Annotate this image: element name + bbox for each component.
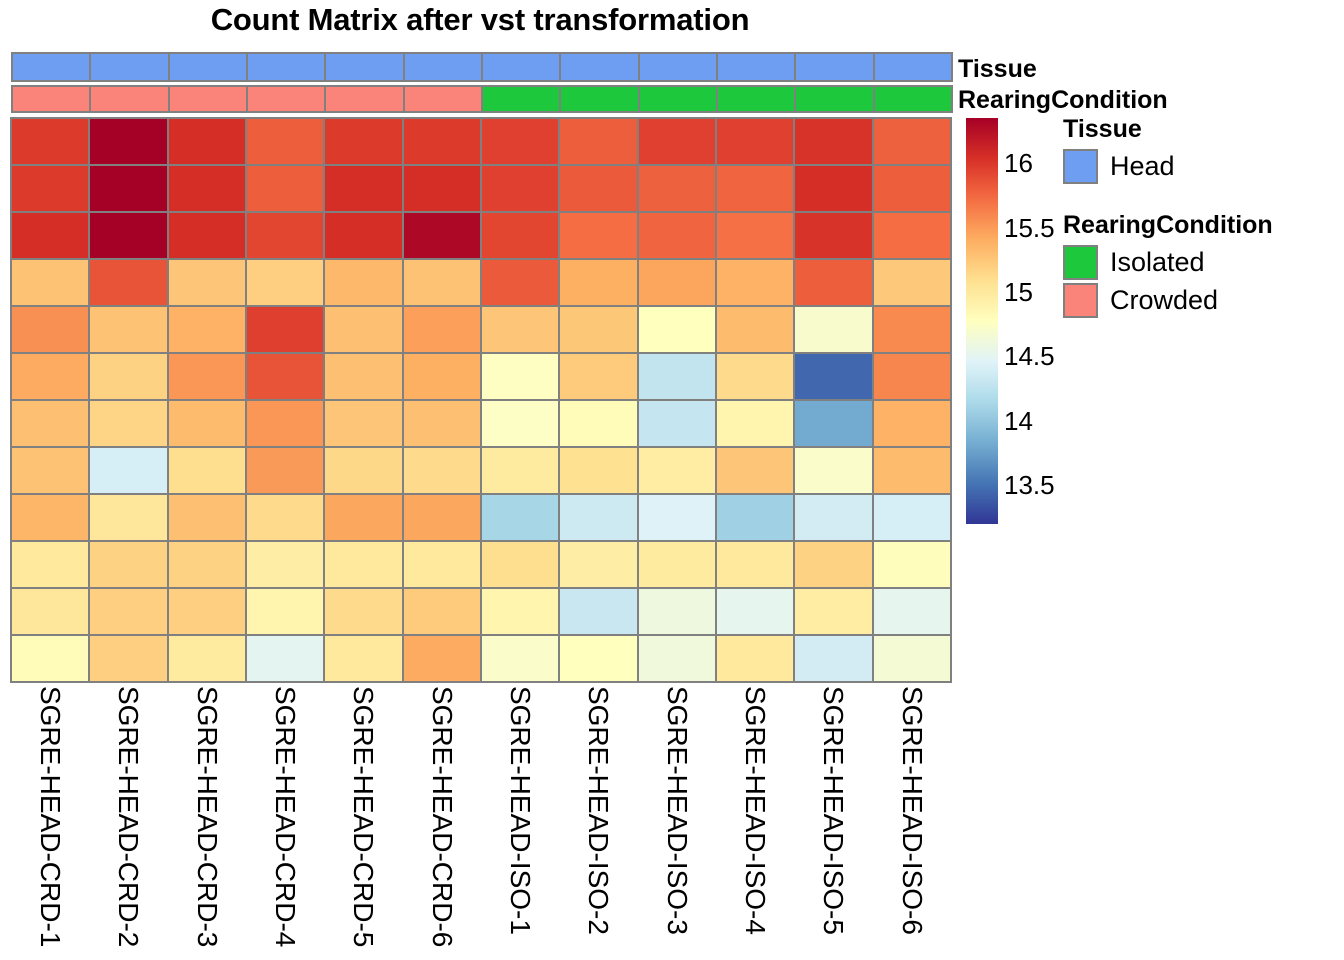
heatmap-cell (637, 164, 717, 213)
heatmap-cell (793, 634, 873, 683)
heatmap-cell (245, 540, 325, 589)
heatmap-cell (715, 634, 795, 683)
column-label-slot: SGRE-HEAD-CRD-5 (324, 686, 402, 956)
annot-rearing-isolated (716, 85, 796, 113)
annotation-label-tissue: Tissue (958, 57, 1037, 82)
heatmap-cell (167, 587, 247, 636)
column-label-slot: SGRE-HEAD-CRD-6 (403, 686, 481, 956)
legend-label-isolated: Isolated (1110, 249, 1205, 276)
heatmap-cell (480, 352, 560, 401)
heatmap-cell (88, 164, 168, 213)
heatmap-cell (323, 587, 403, 636)
heatmap-cell (637, 399, 717, 448)
annot-tissue-head (481, 52, 561, 82)
heatmap-cell (323, 305, 403, 354)
heatmap-cell (793, 493, 873, 542)
heatmap-cell (715, 117, 795, 166)
column-label: SGRE-HEAD-ISO-2 (584, 686, 612, 935)
heatmap-cell (245, 211, 325, 260)
heatmap-cell (480, 587, 560, 636)
annot-tissue-head (11, 52, 91, 82)
column-label: SGRE-HEAD-CRD-3 (193, 686, 221, 947)
heatmap-cell (402, 211, 482, 260)
heatmap-cell (872, 446, 952, 495)
heatmap-cell (245, 634, 325, 683)
column-label-slot: SGRE-HEAD-ISO-1 (481, 686, 559, 956)
annotation-bar-tissue (11, 52, 951, 82)
legend-swatch-crowded (1063, 283, 1098, 318)
heatmap-cell (480, 117, 560, 166)
annot-rearing-crowded (403, 85, 483, 113)
heatmap-cell (872, 164, 952, 213)
heatmap-cell (480, 305, 560, 354)
heatmap-cell (167, 493, 247, 542)
heatmap-cell (88, 634, 168, 683)
column-label-slot: SGRE-HEAD-ISO-3 (638, 686, 716, 956)
heatmap-cell (323, 446, 403, 495)
heatmap-cell (480, 493, 560, 542)
annot-rearing-crowded (246, 85, 326, 113)
column-label-slot: SGRE-HEAD-CRD-4 (246, 686, 324, 956)
annot-rearing-isolated (559, 85, 639, 113)
heatmap-cell (637, 305, 717, 354)
heatmap-cell (10, 493, 90, 542)
heatmap-cell (558, 446, 638, 495)
heatmap-cell (10, 587, 90, 636)
legend-title-tissue: Tissue (1063, 117, 1142, 142)
heatmap-grid (11, 118, 951, 682)
heatmap-cell (558, 587, 638, 636)
heatmap-cell (480, 164, 560, 213)
heatmap-cell (872, 352, 952, 401)
page-title: Count Matrix after vst transformation (0, 2, 960, 38)
annot-tissue-head (89, 52, 169, 82)
heatmap-cell (558, 305, 638, 354)
legend-swatch-head (1063, 149, 1098, 184)
heatmap-cell (558, 540, 638, 589)
heatmap-cell (715, 540, 795, 589)
heatmap-cell (10, 211, 90, 260)
heatmap-cell (793, 399, 873, 448)
heatmap-cell (167, 399, 247, 448)
annot-tissue-head (716, 52, 796, 82)
heatmap-cell (793, 352, 873, 401)
heatmap-figure: Count Matrix after vst transformation Ti… (0, 0, 1344, 960)
heatmap-cell (637, 117, 717, 166)
heatmap-cell (793, 446, 873, 495)
heatmap-cell (323, 540, 403, 589)
heatmap-cell (167, 211, 247, 260)
heatmap-cell (245, 399, 325, 448)
colorbar-tick-14-5: 14.5 (1004, 343, 1055, 369)
annot-tissue-head (559, 52, 639, 82)
heatmap-cell (558, 211, 638, 260)
heatmap-cell (402, 634, 482, 683)
heatmap-cell (872, 258, 952, 307)
column-label-slot: SGRE-HEAD-ISO-4 (716, 686, 794, 956)
heatmap-cell (480, 211, 560, 260)
annotation-bar-rearingcondition (11, 85, 951, 113)
heatmap-cell (637, 211, 717, 260)
column-label: SGRE-HEAD-CRD-4 (271, 686, 299, 947)
heatmap-cell (323, 117, 403, 166)
heatmap-cell (167, 305, 247, 354)
legend-label-head: Head (1110, 153, 1175, 180)
heatmap-cell (10, 399, 90, 448)
heatmap-cell (637, 587, 717, 636)
legend-title-rearingcondition: RearingCondition (1063, 213, 1273, 238)
colorbar-tick-15: 15 (1004, 279, 1033, 305)
heatmap-cell (558, 164, 638, 213)
heatmap-cell (88, 587, 168, 636)
heatmap-cell (88, 493, 168, 542)
heatmap-cell (637, 352, 717, 401)
heatmap-cell (402, 493, 482, 542)
heatmap-cell (167, 258, 247, 307)
heatmap-cell (245, 587, 325, 636)
heatmap-cell (793, 540, 873, 589)
heatmap-cell (715, 164, 795, 213)
column-label: SGRE-HEAD-CRD-5 (349, 686, 377, 947)
colorbar-tick-13-5: 13.5 (1004, 472, 1055, 498)
heatmap-cell (872, 540, 952, 589)
heatmap-cell (715, 399, 795, 448)
heatmap-cell (88, 399, 168, 448)
heatmap-cell (793, 258, 873, 307)
heatmap-cell (323, 399, 403, 448)
column-label-slot: SGRE-HEAD-ISO-2 (559, 686, 637, 956)
heatmap-cell (402, 305, 482, 354)
heatmap-cell (10, 540, 90, 589)
heatmap-cell (558, 352, 638, 401)
annot-rearing-crowded (11, 85, 91, 113)
column-label-slot: SGRE-HEAD-ISO-6 (873, 686, 951, 956)
heatmap-cell (88, 305, 168, 354)
heatmap-cell (10, 164, 90, 213)
heatmap-cell (558, 258, 638, 307)
heatmap-cell (10, 634, 90, 683)
heatmap-cell (323, 352, 403, 401)
heatmap-cell (245, 117, 325, 166)
column-label-slot: SGRE-HEAD-ISO-5 (794, 686, 872, 956)
heatmap-cell (88, 446, 168, 495)
colorbar (966, 118, 998, 524)
heatmap-cell (637, 493, 717, 542)
heatmap-cell (872, 211, 952, 260)
heatmap-cell (323, 211, 403, 260)
annot-rearing-isolated (481, 85, 561, 113)
heatmap-cell (558, 634, 638, 683)
heatmap-cell (402, 258, 482, 307)
heatmap-cell (715, 258, 795, 307)
legend-entry-crowded[interactable]: Crowded (1063, 283, 1218, 318)
heatmap-cell (715, 446, 795, 495)
heatmap-cell (480, 258, 560, 307)
heatmap-cell (245, 305, 325, 354)
heatmap-cell (10, 446, 90, 495)
column-label: SGRE-HEAD-ISO-1 (506, 686, 534, 935)
heatmap-cell (10, 117, 90, 166)
heatmap-cell (558, 117, 638, 166)
heatmap-cell (715, 305, 795, 354)
heatmap-cell (10, 352, 90, 401)
heatmap-cell (793, 117, 873, 166)
heatmap-cell (558, 399, 638, 448)
heatmap-cell (637, 258, 717, 307)
heatmap-cell (715, 587, 795, 636)
heatmap-cell (480, 540, 560, 589)
heatmap-cell (402, 446, 482, 495)
column-label-slot: SGRE-HEAD-CRD-3 (168, 686, 246, 956)
column-label: SGRE-HEAD-CRD-2 (114, 686, 142, 947)
column-axis-labels: SGRE-HEAD-CRD-1SGRE-HEAD-CRD-2SGRE-HEAD-… (11, 686, 951, 956)
heatmap-cell (245, 493, 325, 542)
legend-swatch-isolated (1063, 245, 1098, 280)
colorbar-tick-15-5: 15.5 (1004, 215, 1055, 241)
annot-tissue-head (168, 52, 248, 82)
heatmap-cell (88, 258, 168, 307)
heatmap-cell (167, 117, 247, 166)
column-label: SGRE-HEAD-ISO-6 (898, 686, 926, 935)
heatmap-cell (323, 634, 403, 683)
heatmap-cell (402, 117, 482, 166)
heatmap-cell (323, 493, 403, 542)
column-label: SGRE-HEAD-ISO-3 (663, 686, 691, 935)
column-label: SGRE-HEAD-ISO-5 (819, 686, 847, 935)
legend-label-crowded: Crowded (1110, 287, 1218, 314)
heatmap-cell (480, 399, 560, 448)
annot-tissue-head (873, 52, 953, 82)
heatmap-cell (872, 587, 952, 636)
legend-entry-head[interactable]: Head (1063, 149, 1175, 184)
heatmap-cell (558, 493, 638, 542)
heatmap-cell (323, 164, 403, 213)
heatmap-cell (872, 399, 952, 448)
heatmap-cell (167, 164, 247, 213)
heatmap-cell (167, 540, 247, 589)
colorbar-tick-16: 16 (1004, 150, 1033, 176)
heatmap-cell (793, 164, 873, 213)
legend-entry-isolated[interactable]: Isolated (1063, 245, 1205, 280)
heatmap-cell (402, 164, 482, 213)
heatmap-cell (245, 164, 325, 213)
annot-rearing-isolated (873, 85, 953, 113)
heatmap-cell (245, 258, 325, 307)
heatmap-cell (715, 352, 795, 401)
annot-rearing-crowded (89, 85, 169, 113)
heatmap-cell (715, 211, 795, 260)
annot-rearing-isolated (794, 85, 874, 113)
annot-rearing-isolated (638, 85, 718, 113)
heatmap-cell (872, 117, 952, 166)
column-label-slot: SGRE-HEAD-CRD-1 (11, 686, 89, 956)
heatmap-cell (872, 305, 952, 354)
heatmap-cell (402, 540, 482, 589)
annotation-label-rearingcondition: RearingCondition (958, 88, 1168, 113)
heatmap-cell (480, 446, 560, 495)
annot-tissue-head (246, 52, 326, 82)
heatmap-cell (167, 446, 247, 495)
heatmap-cell (715, 493, 795, 542)
heatmap-cell (637, 446, 717, 495)
annot-rearing-crowded (168, 85, 248, 113)
heatmap-cell (480, 634, 560, 683)
heatmap-cell (793, 211, 873, 260)
colorbar-gradient (966, 118, 998, 524)
heatmap-cell (10, 258, 90, 307)
column-label-slot: SGRE-HEAD-CRD-2 (89, 686, 167, 956)
colorbar-tick-14: 14 (1004, 408, 1033, 434)
heatmap-cell (872, 634, 952, 683)
heatmap-cell (793, 305, 873, 354)
heatmap-cell (245, 446, 325, 495)
heatmap-cell (872, 493, 952, 542)
annot-tissue-head (403, 52, 483, 82)
heatmap-cell (402, 399, 482, 448)
heatmap-cell (88, 211, 168, 260)
heatmap-cell (637, 540, 717, 589)
annot-tissue-head (794, 52, 874, 82)
annot-rearing-crowded (324, 85, 404, 113)
heatmap-cell (167, 634, 247, 683)
column-label: SGRE-HEAD-CRD-1 (36, 686, 64, 947)
heatmap-cell (10, 305, 90, 354)
heatmap-cell (402, 587, 482, 636)
column-label: SGRE-HEAD-ISO-4 (741, 686, 769, 935)
heatmap-cell (637, 634, 717, 683)
heatmap-cell (88, 352, 168, 401)
heatmap-cell (88, 540, 168, 589)
heatmap-cell (167, 352, 247, 401)
column-label: SGRE-HEAD-CRD-6 (428, 686, 456, 947)
heatmap-cell (323, 258, 403, 307)
annot-tissue-head (638, 52, 718, 82)
heatmap-cell (793, 587, 873, 636)
heatmap-cell (402, 352, 482, 401)
annot-tissue-head (324, 52, 404, 82)
heatmap-cell (88, 117, 168, 166)
heatmap-cell (245, 352, 325, 401)
